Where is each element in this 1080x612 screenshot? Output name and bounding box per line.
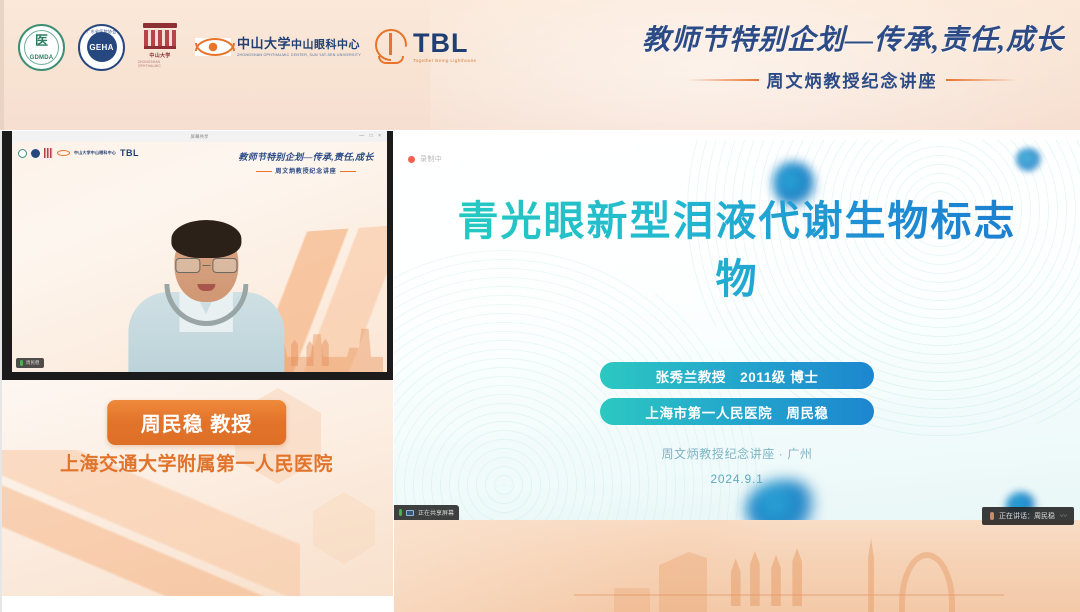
tbl-logo-tagline: Together Being Lighthouse xyxy=(413,58,476,63)
band-block-decor-2 xyxy=(614,588,650,612)
bottom-illustration-band xyxy=(394,520,1080,612)
eye-icon xyxy=(195,38,231,56)
geha-logo: 广东省医院协会 GEHA xyxy=(78,24,125,71)
gdmda-logo-mark: 医 xyxy=(35,34,48,47)
video-window-title: 屏幕共享 xyxy=(191,134,209,140)
slide-subtitle: 周文炳教授纪念讲座 · 广州 xyxy=(661,445,812,462)
screen-share-icon xyxy=(406,510,414,516)
tbl-logo-text: TBL Together Being Lighthouse xyxy=(413,31,476,64)
video-bg-headline-main: 教师节特别企划—传承,责任,成长 xyxy=(231,150,381,163)
audio-wave-icon: 〰 xyxy=(1060,511,1066,521)
building-columns-icon xyxy=(144,30,176,49)
video-window-buttons[interactable]: — □ × xyxy=(359,133,383,139)
building-logo-cn: 中山大学 xyxy=(149,52,170,59)
video-bg-logo-row: 中山大学中山眼科中心 TBL xyxy=(18,148,139,158)
screen-share-badge-label: 正在共享屏幕 xyxy=(418,508,454,517)
event-header-banner: 医 GDMDA 广东省医院协会 GEHA 中山大学 ZHONGSHAN OPHT… xyxy=(0,0,1080,130)
ident-hexagon-decor-2 xyxy=(313,492,375,564)
speaker-hair xyxy=(171,220,241,258)
microphone-icon xyxy=(20,360,23,366)
speaking-mic-icon xyxy=(990,512,994,520)
speaker-affiliation: 上海交通大学附属第一人民医院 xyxy=(60,449,333,476)
tbl-logo: TBL Together Being Lighthouse xyxy=(374,27,476,67)
lighthouse-icon xyxy=(374,27,408,67)
record-dot-icon xyxy=(408,156,415,163)
speaker-video-panel[interactable]: 屏幕共享 — □ × 中山大学中山眼科中心 TBL 教师节特别企划—传承,责任,… xyxy=(0,131,393,380)
slide-title: 青光眼新型泪液代谢生物标志物 xyxy=(457,192,1017,308)
video-bg-headline-sub: 周文炳教授纪念讲座 xyxy=(231,166,381,175)
video-bg-gdmda-icon xyxy=(18,149,27,158)
slide-blob-decor-corner xyxy=(1016,148,1042,172)
video-bg-headline-sub-text: 周文炳教授纪念讲座 xyxy=(275,169,336,175)
geha-logo-abbr: GEHA xyxy=(89,43,113,52)
active-speaker-badge: 正在讲话：周民稳 〰 xyxy=(982,507,1074,525)
slide-credit-pill-1: 张秀兰教授 2011级 博士 xyxy=(600,362,874,389)
speaker-name-badge: 周民稳 教授 xyxy=(107,400,287,445)
tbl-logo-wordmark: TBL xyxy=(413,31,476,57)
building-roof-icon xyxy=(143,23,177,28)
speaker-ident-area: 周民稳 教授 上海交通大学附属第一人民医院 xyxy=(0,380,393,612)
event-headline-main: 教师节特别企划—传承,责任,成长 xyxy=(642,18,1062,58)
speaker-person xyxy=(126,222,286,372)
video-bg-zoc-label: 中山大学中山眼科中心 xyxy=(74,150,116,156)
band-arch-silhouette xyxy=(899,552,955,612)
zoc-logo-cn-small: 中山眼科中心 xyxy=(291,39,360,51)
video-bg-building-icon xyxy=(44,148,53,158)
zoc-logo-cn: 中山大学中山眼科中心 xyxy=(237,37,361,51)
video-name-badge-label: 周民稳 xyxy=(26,360,40,366)
gdmda-logo-abbr: GDMDA xyxy=(30,55,54,61)
video-window-titlebar: 屏幕共享 — □ × xyxy=(12,131,387,142)
band-tower-silhouette xyxy=(862,538,880,612)
headline-rule-left xyxy=(687,79,759,81)
video-bg-tbl-label: TBL xyxy=(120,148,139,158)
zoc-logo-en: ZHONGSHAN OPHTHALMIC CENTER, SUN YAT-SEN… xyxy=(237,53,361,57)
event-headline-sub-row: 周文炳教授纪念讲座 xyxy=(642,67,1062,92)
video-bg-geha-icon xyxy=(31,149,40,158)
video-bg-eye-icon xyxy=(57,150,70,156)
video-feed: 中山大学中山眼科中心 TBL 教师节特别企划—传承,责任,成长 周文炳教授纪念讲… xyxy=(12,142,387,372)
recording-indicator: 录制中 xyxy=(408,154,442,164)
bottom-left-filler xyxy=(0,596,394,612)
event-headline-sub: 周文炳教授纪念讲座 xyxy=(767,67,938,92)
header-left-edge xyxy=(0,0,4,130)
headline-rule-right xyxy=(946,79,1018,81)
stage-left-border xyxy=(0,131,2,612)
gdmda-logo: 医 GDMDA xyxy=(18,24,65,71)
hospital-building-logo: 中山大学 ZHONGSHAN OPHTHALMIC xyxy=(138,23,182,71)
zoc-logo-text: 中山大学中山眼科中心 ZHONGSHAN OPHTHALMIC CENTER, … xyxy=(237,37,361,57)
geha-logo-ring-text: 广东省医院协会 xyxy=(80,29,123,35)
zoc-logo-cn-big: 中山大学 xyxy=(237,36,291,51)
active-speaker-label: 正在讲话：周民稳 xyxy=(999,511,1055,521)
video-bg-headline: 教师节特别企划—传承,责任,成长 周文炳教授纪念讲座 xyxy=(231,150,381,175)
building-logo-en: ZHONGSHAN OPHTHALMIC xyxy=(138,60,182,68)
event-headline: 教师节特别企划—传承,责任,成长 周文炳教授纪念讲座 xyxy=(642,18,1062,92)
share-microphone-icon xyxy=(399,509,402,516)
video-name-badge: 周民稳 xyxy=(16,358,44,368)
slide-credit-pill-2: 上海市第一人民医院 周民稳 xyxy=(600,398,874,425)
zoc-logo: 中山大学中山眼科中心 ZHONGSHAN OPHTHALMIC CENTER, … xyxy=(195,37,361,57)
sponsor-logo-row: 医 GDMDA 广东省医院协会 GEHA 中山大学 ZHONGSHAN OPHT… xyxy=(18,20,476,74)
shared-slide[interactable]: 录制中 青光眼新型泪液代谢生物标志物 张秀兰教授 2011级 博士 上海市第一人… xyxy=(394,140,1080,520)
slide-date: 2024.9.1 xyxy=(710,472,763,486)
webinar-stage: 医 GDMDA 广东省医院协会 GEHA 中山大学 ZHONGSHAN OPHT… xyxy=(0,0,1080,612)
recording-label: 录制中 xyxy=(420,154,442,164)
screen-share-badge: 正在共享屏幕 xyxy=(394,505,459,520)
geha-logo-disc: GEHA xyxy=(87,32,117,62)
glasses-icon xyxy=(175,258,237,273)
